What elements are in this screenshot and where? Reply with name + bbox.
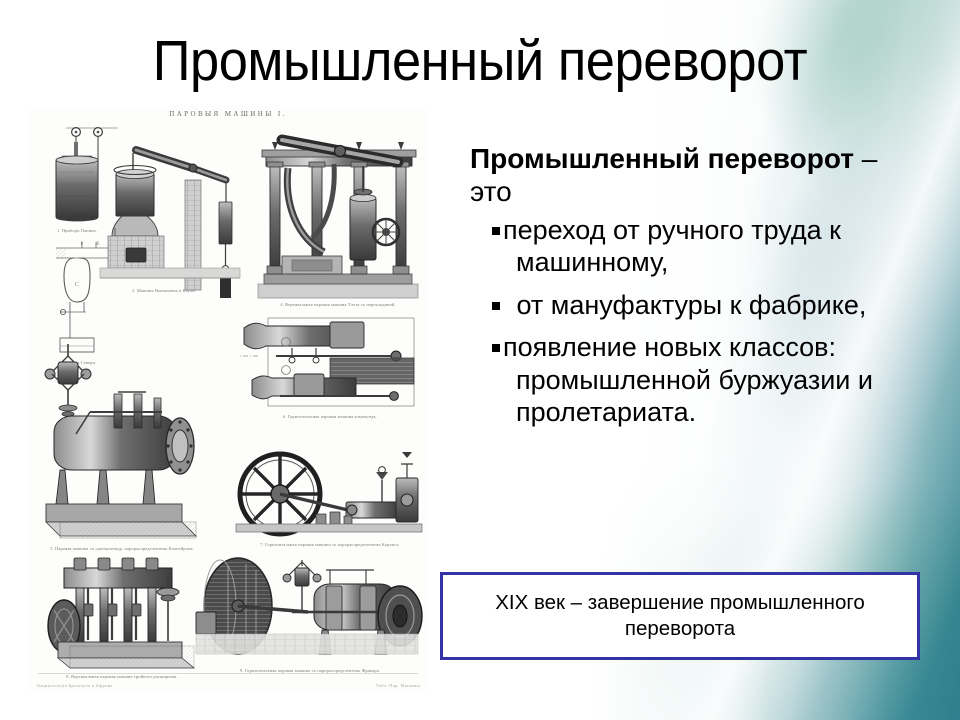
list-item-text: появление новых классов: промышленной бу…: [503, 332, 873, 427]
list-item-text: переход от ручного труда к машинному,: [503, 215, 841, 277]
slide-title: Промышленный переворот: [38, 32, 921, 92]
callout-text: XIX век – завершение промышленного перев…: [443, 590, 917, 642]
figure-8-triple-expansion-engine: 8. Вертикальная паровая машина тройного …: [48, 558, 194, 679]
plate-footer: Энциклопедія Брокгауза и Ефрона Табл. Па…: [36, 683, 420, 688]
list-item: появление новых классов: промышленной бу…: [470, 331, 900, 428]
svg-text:6. Горизонтальная паровая маши: 6. Горизонтальная паровая машина компаун…: [283, 414, 377, 419]
svg-text:1. Приборъ Папина.: 1. Приборъ Папина.: [57, 228, 97, 233]
list-item: переход от ручного труда к машинному,: [470, 214, 900, 279]
figure-2-savery-engine: F E C 2. Машина Севери.: [56, 241, 114, 365]
plate-footer-left: Энциклопедія Брокгауза и Ефрона: [36, 683, 113, 688]
list-item-text: от мануфактуры к фабрике,: [509, 290, 866, 320]
plate-divider-rule: [38, 673, 418, 674]
steam-engines-illustration: ПАРОВЫЯ МАШИНЫ I.: [30, 106, 426, 694]
square-bullet-icon: [492, 344, 500, 352]
square-bullet-icon: [492, 302, 500, 310]
svg-text:4. Вертикальная паровая машина: 4. Вертикальная паровая машина Уатта съ …: [280, 302, 395, 307]
callout-box: XIX век – завершение промышленного перев…: [440, 572, 920, 660]
figure-9-horizontal-engine-rope-drive: 9. Горизонтальная паровая машина съ паро…: [196, 558, 422, 673]
definition-bullet-list: переход от ручного труда к машинному, от…: [470, 214, 900, 428]
svg-text:7. Горизонтальная паровая маши: 7. Горизонтальная паровая машина съ паро…: [260, 542, 399, 547]
definition-term: Промышленный переворот: [470, 143, 854, 174]
square-bullet-icon: [492, 227, 500, 235]
svg-text:C: C: [75, 282, 79, 288]
figure-6-compound-engine-section: 6. Горизонтальная паровая машина компаун…: [240, 318, 414, 419]
figure-1-papin-apparatus: 1. Приборъ Папина.: [56, 128, 118, 233]
plate-engraving-svg: 1. Приборъ Папина. F E C 2. Машина Север…: [30, 106, 426, 694]
definition-lead: Промышленный переворот – это: [470, 142, 900, 208]
svg-text:8. Вертикальная паровая машина: 8. Вертикальная паровая машина тройного …: [66, 674, 177, 679]
figure-5-horizontal-engine-governor: 5. Паровая машина съ одноцилиндр. парора…: [45, 344, 196, 551]
figure-7-corliss-engine: 7. Горизонтальная паровая машина съ паро…: [236, 452, 422, 547]
list-item: от мануфактуры к фабрике,: [470, 289, 900, 321]
svg-text:E: E: [96, 241, 100, 247]
plate-footer-right: Табл. Пар. Машины: [376, 683, 420, 688]
definition-text-block: Промышленный переворот – это переход от …: [470, 142, 900, 438]
svg-text:3. Машина Ньюкомена и Коули.: 3. Машина Ньюкомена и Коули.: [132, 288, 196, 293]
svg-text:5. Паровая машина съ одноцилин: 5. Паровая машина съ одноцилиндр. парора…: [50, 546, 194, 551]
figure-3-newcomen-engine: 3. Машина Ньюкомена и Коули.: [100, 150, 240, 298]
figure-4-watt-beam-engine: 4. Вертикальная паровая машина Уатта съ …: [258, 140, 418, 307]
slide-canvas: Промышленный переворот ПАРОВЫЯ МАШИНЫ I.: [0, 0, 960, 720]
svg-text:F: F: [80, 241, 83, 247]
